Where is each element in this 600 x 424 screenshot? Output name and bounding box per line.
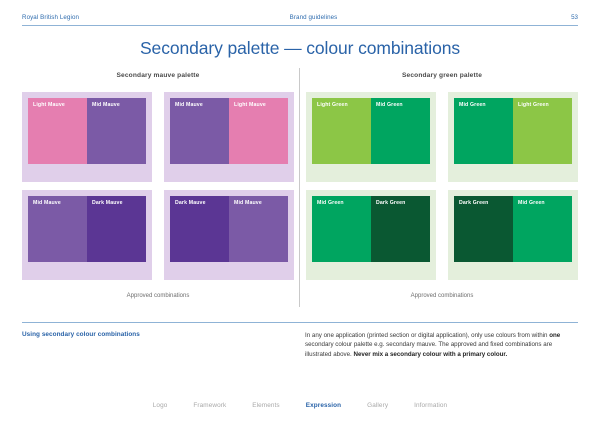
column-divider xyxy=(299,68,300,307)
swatch-label: Mid Mauve xyxy=(92,102,120,108)
swatch-pair: Light MauveMid Mauve xyxy=(28,98,146,164)
swatch-label: Mid Mauve xyxy=(234,200,262,206)
swatch-label: Light Mauve xyxy=(33,102,65,108)
footer-nav-item-expression[interactable]: Expression xyxy=(306,402,341,409)
colour-combination-swatch: Mid GreenDark Green xyxy=(306,190,436,280)
swatch-label: Light Green xyxy=(518,102,549,108)
swatch-label: Mid Green xyxy=(317,200,344,206)
footer-nav-item-elements[interactable]: Elements xyxy=(252,402,279,409)
swatch-pair: Light GreenMid Green xyxy=(312,98,430,164)
header-page-number: 53 xyxy=(548,14,578,21)
swatch-label: Dark Green xyxy=(459,200,488,206)
swatch-right: Mid Green xyxy=(513,196,572,262)
footer-nav-item-information[interactable]: Information xyxy=(414,402,447,409)
swatch-pair: Dark MauveMid Mauve xyxy=(170,196,288,262)
swatch-label: Mid Mauve xyxy=(175,102,203,108)
swatch-left: Mid Green xyxy=(312,196,371,262)
caption-approved-combinations-mauve: Approved combinations xyxy=(22,293,294,299)
swatch-grid-green: Light GreenMid GreenMid GreenLight Green… xyxy=(306,92,578,280)
notes-body: In any one application (printed section … xyxy=(305,331,577,359)
colour-combination-swatch: Dark MauveMid Mauve xyxy=(164,190,294,280)
swatch-left: Mid Mauve xyxy=(28,196,87,262)
swatch-pair: Dark GreenMid Green xyxy=(454,196,572,262)
swatch-label: Dark Green xyxy=(376,200,405,206)
notes-body-emphasis-one: one xyxy=(549,332,560,339)
swatch-left: Light Mauve xyxy=(28,98,87,164)
swatch-left: Mid Green xyxy=(454,98,513,164)
swatch-right: Light Mauve xyxy=(229,98,288,164)
swatch-label: Light Green xyxy=(317,102,348,108)
swatch-left: Light Green xyxy=(312,98,371,164)
colour-combination-swatch: Mid GreenLight Green xyxy=(448,92,578,182)
swatch-grid-mauve: Light MauveMid MauveMid MauveLight Mauve… xyxy=(22,92,294,280)
swatch-right: Dark Mauve xyxy=(87,196,146,262)
swatch-pair: Mid GreenDark Green xyxy=(312,196,430,262)
notes-body-emphasis-warning: Never mix a secondary colour with a prim… xyxy=(354,351,508,358)
column-heading-mauve: Secondary mauve palette xyxy=(22,72,294,79)
colour-combination-swatch: Light MauveMid Mauve xyxy=(22,92,152,182)
swatch-right: Mid Mauve xyxy=(229,196,288,262)
notes-body-text-1: In any one application (printed section … xyxy=(305,332,549,339)
header-divider-rule xyxy=(22,25,578,26)
footer-nav-item-framework[interactable]: Framework xyxy=(193,402,226,409)
page-header: Royal British Legion Brand guidelines 53 xyxy=(22,9,578,25)
notes-title: Using secondary colour combinations xyxy=(22,331,282,338)
swatch-pair: Mid MauveDark Mauve xyxy=(28,196,146,262)
swatch-right: Dark Green xyxy=(371,196,430,262)
swatch-right: Mid Mauve xyxy=(87,98,146,164)
swatch-label: Dark Mauve xyxy=(175,200,206,206)
swatch-left: Dark Mauve xyxy=(170,196,229,262)
swatch-left: Dark Green xyxy=(454,196,513,262)
swatch-left: Mid Mauve xyxy=(170,98,229,164)
swatch-right: Mid Green xyxy=(371,98,430,164)
footer-nav-item-gallery[interactable]: Gallery xyxy=(367,402,388,409)
colour-combination-swatch: Dark GreenMid Green xyxy=(448,190,578,280)
page-title: Secondary palette — colour combinations xyxy=(0,38,600,59)
notes-divider-rule xyxy=(22,322,578,323)
swatch-label: Mid Green xyxy=(518,200,545,206)
header-brand-name: Royal British Legion xyxy=(22,14,79,21)
swatch-label: Dark Mauve xyxy=(92,200,123,206)
swatch-label: Light Mauve xyxy=(234,102,266,108)
footer-navigation: LogoFrameworkElementsExpressionGalleryIn… xyxy=(0,402,600,409)
footer-nav-item-logo[interactable]: Logo xyxy=(153,402,168,409)
swatch-right: Light Green xyxy=(513,98,572,164)
caption-approved-combinations-green: Approved combinations xyxy=(306,293,578,299)
swatch-label: Mid Green xyxy=(376,102,403,108)
header-document-title: Brand guidelines xyxy=(79,14,548,21)
brand-guidelines-page: Royal British Legion Brand guidelines 53… xyxy=(0,0,600,424)
colour-combination-swatch: Mid MauveLight Mauve xyxy=(164,92,294,182)
column-heading-green: Secondary green palette xyxy=(306,72,578,79)
colour-combination-swatch: Light GreenMid Green xyxy=(306,92,436,182)
swatch-pair: Mid GreenLight Green xyxy=(454,98,572,164)
swatch-pair: Mid MauveLight Mauve xyxy=(170,98,288,164)
swatch-label: Mid Green xyxy=(459,102,486,108)
swatch-label: Mid Mauve xyxy=(33,200,61,206)
colour-combination-swatch: Mid MauveDark Mauve xyxy=(22,190,152,280)
